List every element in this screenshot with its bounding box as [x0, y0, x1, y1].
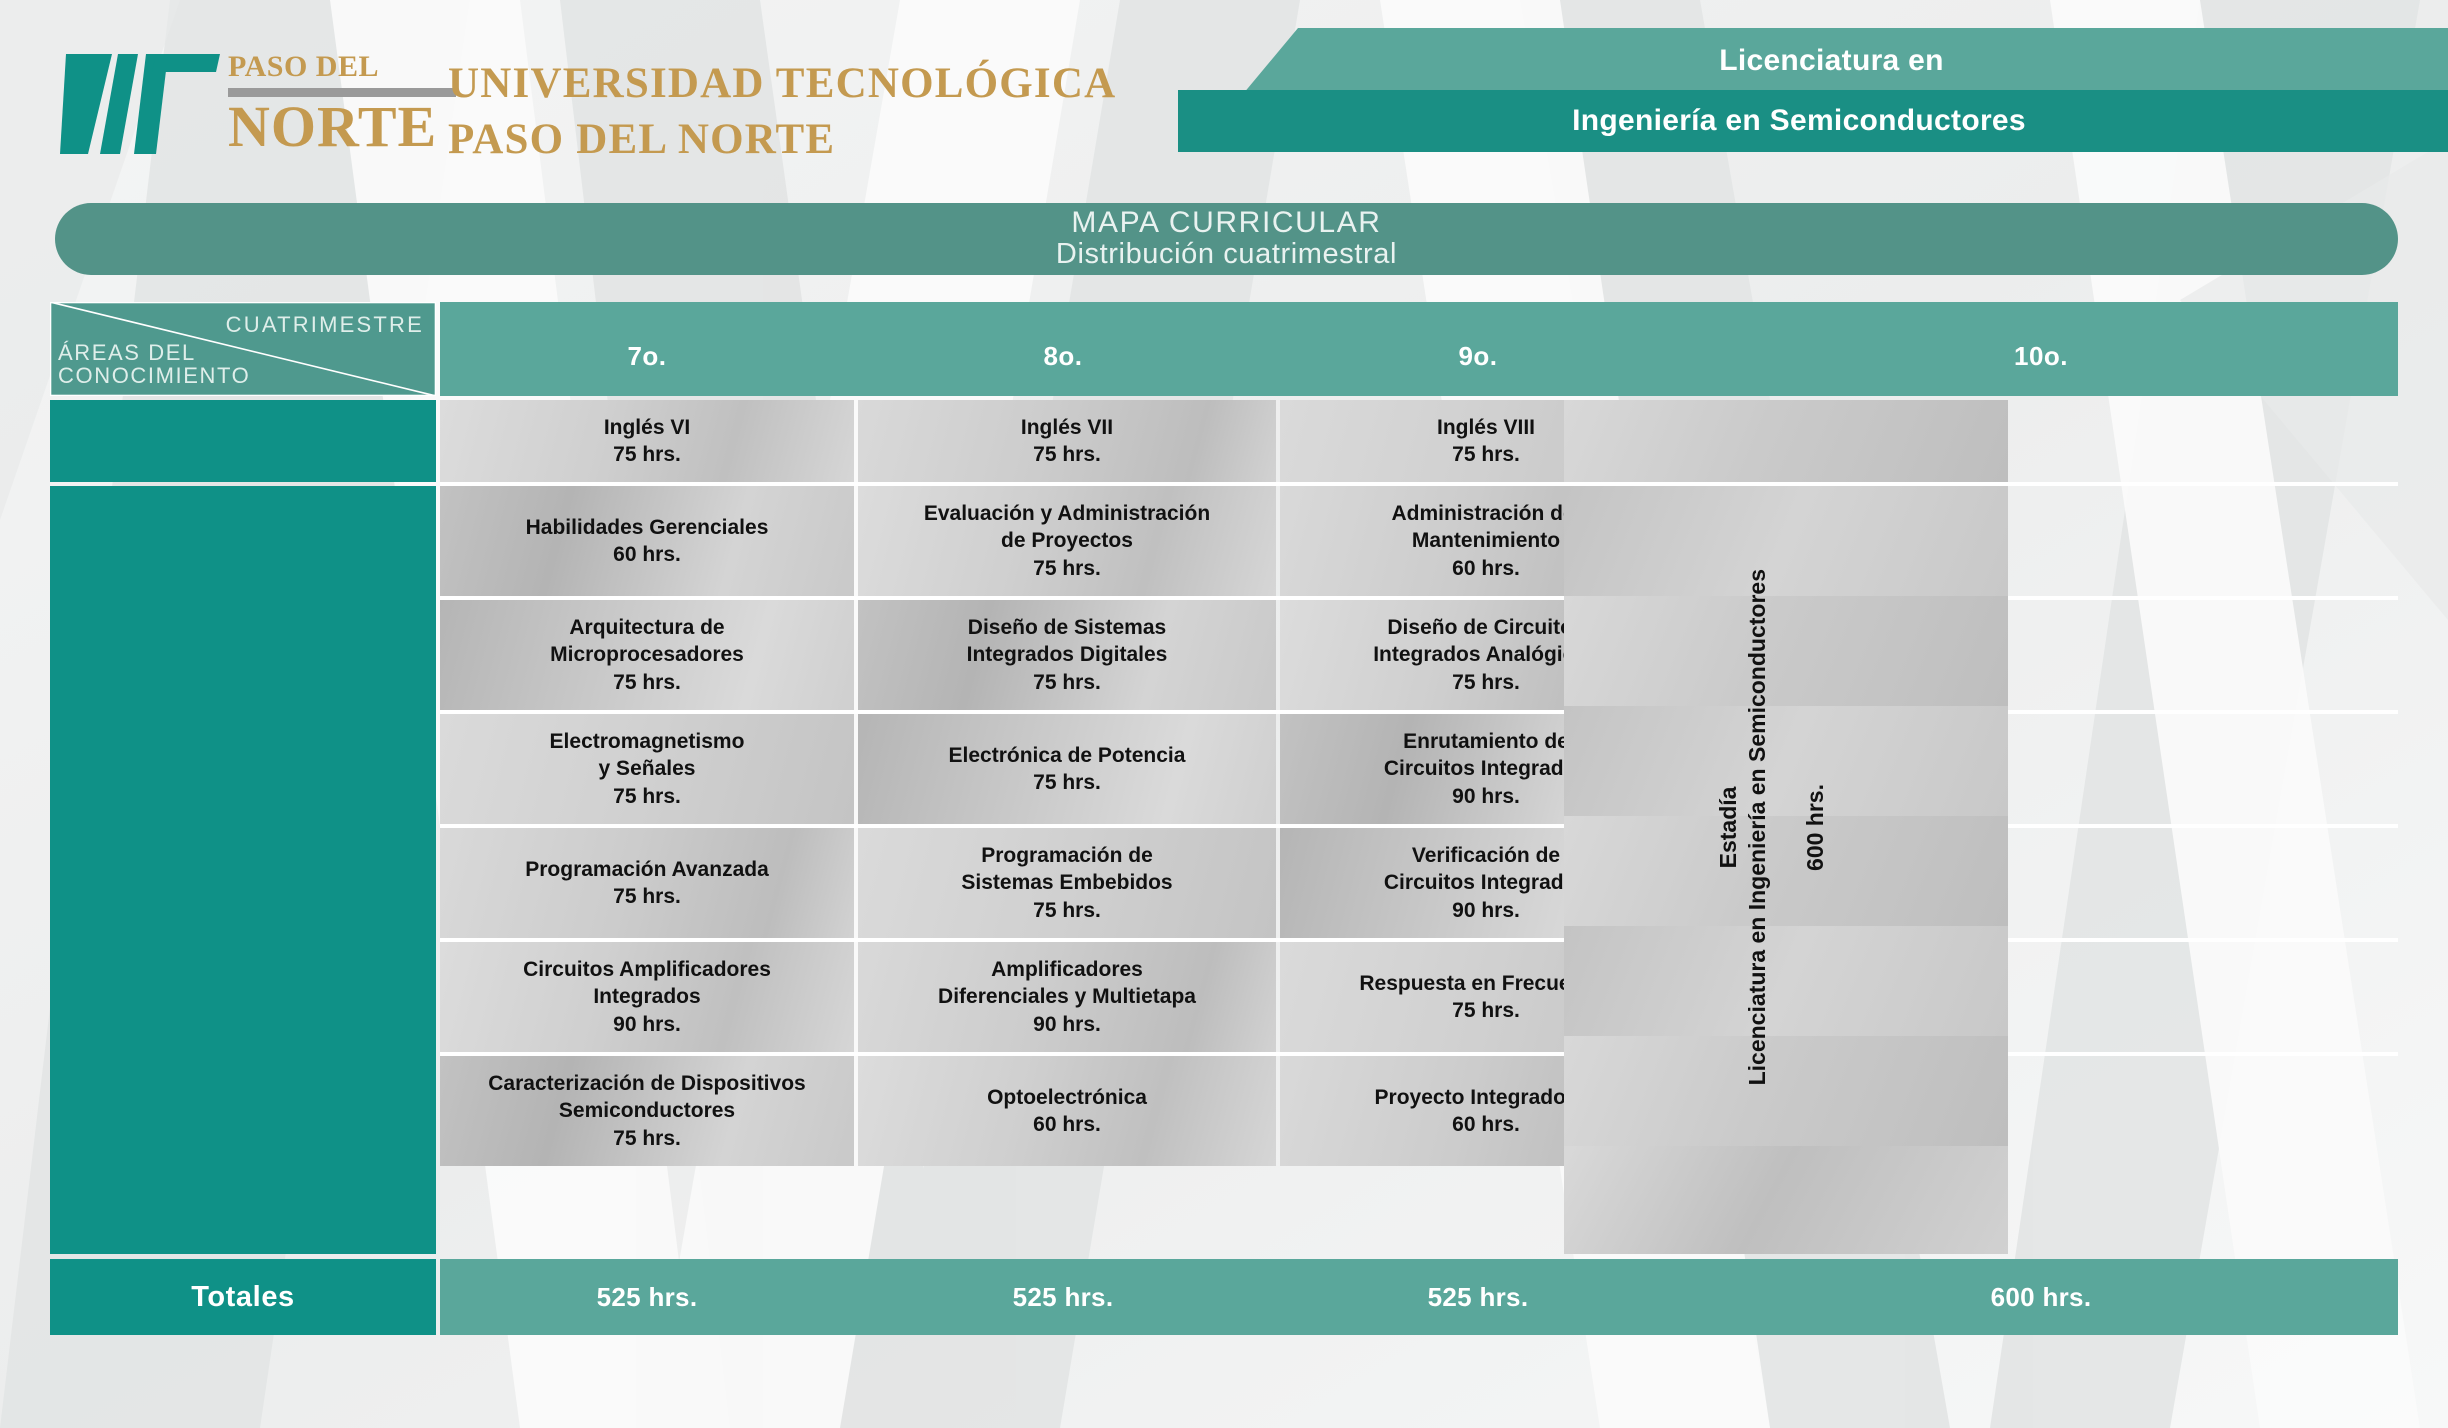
course-name-line: Inglés VIII [1437, 414, 1535, 441]
university-name: UNIVERSIDAD TECNOLÓGICA PASO DEL NORTE [448, 56, 1116, 168]
course-name-line: Diseño de Sistemas [968, 614, 1166, 641]
course-hours: 75 hrs. [1033, 669, 1101, 696]
curriculum-table: CUATRIMESTRE ÁREAS DEL CONOCIMIENTO 7o.8… [50, 302, 2398, 1335]
estadia-title: Estadía Licenciatura en Ingeniería en Se… [1714, 569, 1772, 1085]
course-name-line: Inglés VII [1021, 414, 1113, 441]
quarter-header-7: 7o. [440, 302, 854, 396]
course-row-curso-4: Programación Avanzada75 hrs.Programación… [440, 828, 2398, 938]
course-hours: 75 hrs. [613, 441, 681, 468]
course-hours: 75 hrs. [1033, 897, 1101, 924]
course-cell: Optoelectrónica60 hrs. [858, 1056, 1276, 1166]
total-value-label: 525 hrs. [1428, 1282, 1529, 1313]
course-name-line: de Proyectos [1001, 527, 1133, 554]
quarter-header-10: 10o. [1684, 302, 2398, 396]
course-name-line: Evaluación y Administración [924, 500, 1210, 527]
degree-program-label: Ingeniería en Semiconductores [1178, 90, 2448, 152]
utpn-monogram-icon [60, 48, 230, 160]
course-name-line: Diseño de Circuitos [1387, 614, 1584, 641]
course-cell: Circuitos AmplificadoresIntegrados90 hrs… [440, 942, 854, 1052]
course-cell: Programación Avanzada75 hrs. [440, 828, 854, 938]
total-value-7: 525 hrs. [440, 1259, 854, 1335]
course-name-line: Integrados [593, 983, 700, 1010]
estadia-line1: Estadía [1715, 786, 1741, 868]
corner-areas-label: ÁREAS DEL CONOCIMIENTO [58, 341, 250, 389]
course-name-line: Programación Avanzada [525, 856, 769, 883]
course-row-curso-3: Electromagnetismoy Señales75 hrs.Electró… [440, 714, 2398, 824]
curriculum-map-title-bar: MAPA CURRICULAR Distribución cuatrimestr… [55, 203, 2398, 275]
total-value-10: 600 hrs. [1684, 1259, 2398, 1335]
course-cell: Diseño de SistemasIntegrados Digitales75… [858, 600, 1276, 710]
course-cell: Inglés VII75 hrs. [858, 400, 1276, 482]
course-name-line: Electrónica de Potencia [949, 742, 1186, 769]
estadia-text-group: Estadía Licenciatura en Ingeniería en Se… [1714, 569, 1830, 1085]
corner-quarter-label: CUATRIMESTRE [226, 312, 424, 338]
course-cell: Inglés VI75 hrs. [440, 400, 854, 482]
university-name-line1: UNIVERSIDAD TECNOLÓGICA [448, 56, 1116, 112]
estadia-band [1564, 400, 2008, 482]
quarter-header-label: 8o. [1043, 341, 1082, 372]
quarter-header-row: 7o.8o.9o.10o. [440, 302, 2398, 396]
course-hours: 90 hrs. [1033, 1011, 1101, 1038]
title-main: MAPA CURRICULAR [1071, 207, 1381, 238]
course-hours: 90 hrs. [613, 1011, 681, 1038]
course-cell: Electrónica de Potencia75 hrs. [858, 714, 1276, 824]
total-value-label: 525 hrs. [597, 1282, 698, 1313]
course-name-line: Amplificadores [991, 956, 1143, 983]
total-value-label: 600 hrs. [1991, 1282, 2092, 1313]
course-name-line: Arquitectura de [569, 614, 724, 641]
course-hours: 75 hrs. [1033, 769, 1101, 796]
course-hours: 75 hrs. [613, 783, 681, 810]
quarter-header-label: 7o. [627, 341, 666, 372]
course-name-line: Electromagnetismo [550, 728, 745, 755]
course-cell: AmplificadoresDiferenciales y Multietapa… [858, 942, 1276, 1052]
totals-label: Totales [50, 1259, 436, 1335]
course-name-line: Semiconductores [559, 1097, 735, 1124]
estadia-hours: 600 hrs. [1801, 784, 1830, 871]
course-hours: 75 hrs. [1033, 441, 1101, 468]
corner-areas-line1: ÁREAS DEL [58, 341, 250, 365]
course-hours: 75 hrs. [1452, 997, 1520, 1024]
course-hours: 75 hrs. [1452, 441, 1520, 468]
quarter-header-label: 10o. [2014, 341, 2068, 372]
course-cell: Electromagnetismoy Señales75 hrs. [440, 714, 854, 824]
title-subtitle: Distribución cuatrimestral [1056, 238, 1397, 270]
course-hours: 60 hrs. [1033, 1111, 1101, 1138]
course-row-curso-2: Arquitectura deMicroprocesadores75 hrs.D… [440, 600, 2398, 710]
estadia-line2: Licenciatura en Ingeniería en Semiconduc… [1744, 569, 1770, 1085]
course-hours: 60 hrs. [1452, 1111, 1520, 1138]
course-name-line: Microprocesadores [550, 641, 744, 668]
course-hours: 75 hrs. [613, 1125, 681, 1152]
course-name-line: Habilidades Gerenciales [526, 514, 769, 541]
course-name-line: Programación de [981, 842, 1153, 869]
course-hours: 75 hrs. [613, 883, 681, 910]
university-name-line2: PASO DEL NORTE [448, 112, 1116, 168]
quarter-header-8: 8o. [854, 302, 1272, 396]
corner-areas-line2: CONOCIMIENTO [58, 364, 250, 388]
course-name-line: Administración del [1391, 500, 1580, 527]
course-name-line: Verificación de [1412, 842, 1560, 869]
totals-values-row: 525 hrs.525 hrs.525 hrs.600 hrs. [440, 1259, 2398, 1335]
total-value-8: 525 hrs. [854, 1259, 1272, 1335]
course-grid: Inglés VI75 hrs.Inglés VII75 hrs.Inglés … [440, 400, 2398, 1254]
course-name-line: Enrutamiento de [1403, 728, 1569, 755]
estadia-cell: Estadía Licenciatura en Ingeniería en Se… [1564, 400, 2008, 1254]
total-value-9: 525 hrs. [1272, 1259, 1684, 1335]
course-cell: Programación deSistemas Embebidos75 hrs. [858, 828, 1276, 938]
area-block-languages [50, 400, 436, 482]
course-hours: 60 hrs. [613, 541, 681, 568]
course-cell: Evaluación y Administraciónde Proyectos7… [858, 486, 1276, 596]
logo-text-top: PASO DEL [228, 52, 458, 82]
course-name-line: Optoelectrónica [987, 1084, 1147, 1111]
course-name-line: Sistemas Embebidos [961, 869, 1172, 896]
logo-text-bottom: NORTE [228, 99, 458, 154]
course-hours: 90 hrs. [1452, 897, 1520, 924]
table-corner-header: CUATRIMESTRE ÁREAS DEL CONOCIMIENTO [50, 302, 436, 396]
course-name-line: y Señales [599, 755, 696, 782]
course-cell: Arquitectura deMicroprocesadores75 hrs. [440, 600, 854, 710]
course-hours: 60 hrs. [1452, 555, 1520, 582]
total-value-label: 525 hrs. [1013, 1282, 1114, 1313]
course-name-line: Integrados Digitales [967, 641, 1168, 668]
course-hours: 75 hrs. [613, 669, 681, 696]
university-logo: PASO DEL NORTE [60, 48, 390, 160]
area-block-core [50, 486, 436, 1254]
course-row-curso-1: Habilidades Gerenciales60 hrs.Evaluación… [440, 486, 2398, 596]
course-name-line: Mantenimiento [1412, 527, 1560, 554]
course-name-line: Circuitos Integrados [1384, 755, 1588, 782]
course-hours: 90 hrs. [1452, 783, 1520, 810]
quarter-header-9: 9o. [1272, 302, 1684, 396]
course-hours: 75 hrs. [1033, 555, 1101, 582]
course-name-line: Circuitos Amplificadores [523, 956, 771, 983]
course-cell: Habilidades Gerenciales60 hrs. [440, 486, 854, 596]
quarter-header-label: 9o. [1458, 341, 1497, 372]
course-name-line: Inglés VI [604, 414, 690, 441]
course-name-line: Diferenciales y Multietapa [938, 983, 1196, 1010]
course-name-line: Circuitos Integrados [1384, 869, 1588, 896]
course-row-curso-6: Caracterización de DispositivosSemicondu… [440, 1056, 2398, 1166]
course-name-line: Caracterización de Dispositivos [488, 1070, 805, 1097]
degree-banner: Licenciatura en Ingeniería en Semiconduc… [1178, 28, 2448, 150]
course-row-idiomas: Inglés VI75 hrs.Inglés VII75 hrs.Inglés … [440, 400, 2398, 482]
course-cell: Caracterización de DispositivosSemicondu… [440, 1056, 854, 1166]
course-hours: 75 hrs. [1452, 669, 1520, 696]
degree-level-label: Licenciatura en [1243, 28, 2448, 94]
course-row-curso-5: Circuitos AmplificadoresIntegrados90 hrs… [440, 942, 2398, 1052]
page-header: PASO DEL NORTE UNIVERSIDAD TECNOLÓGICA P… [0, 0, 2448, 190]
